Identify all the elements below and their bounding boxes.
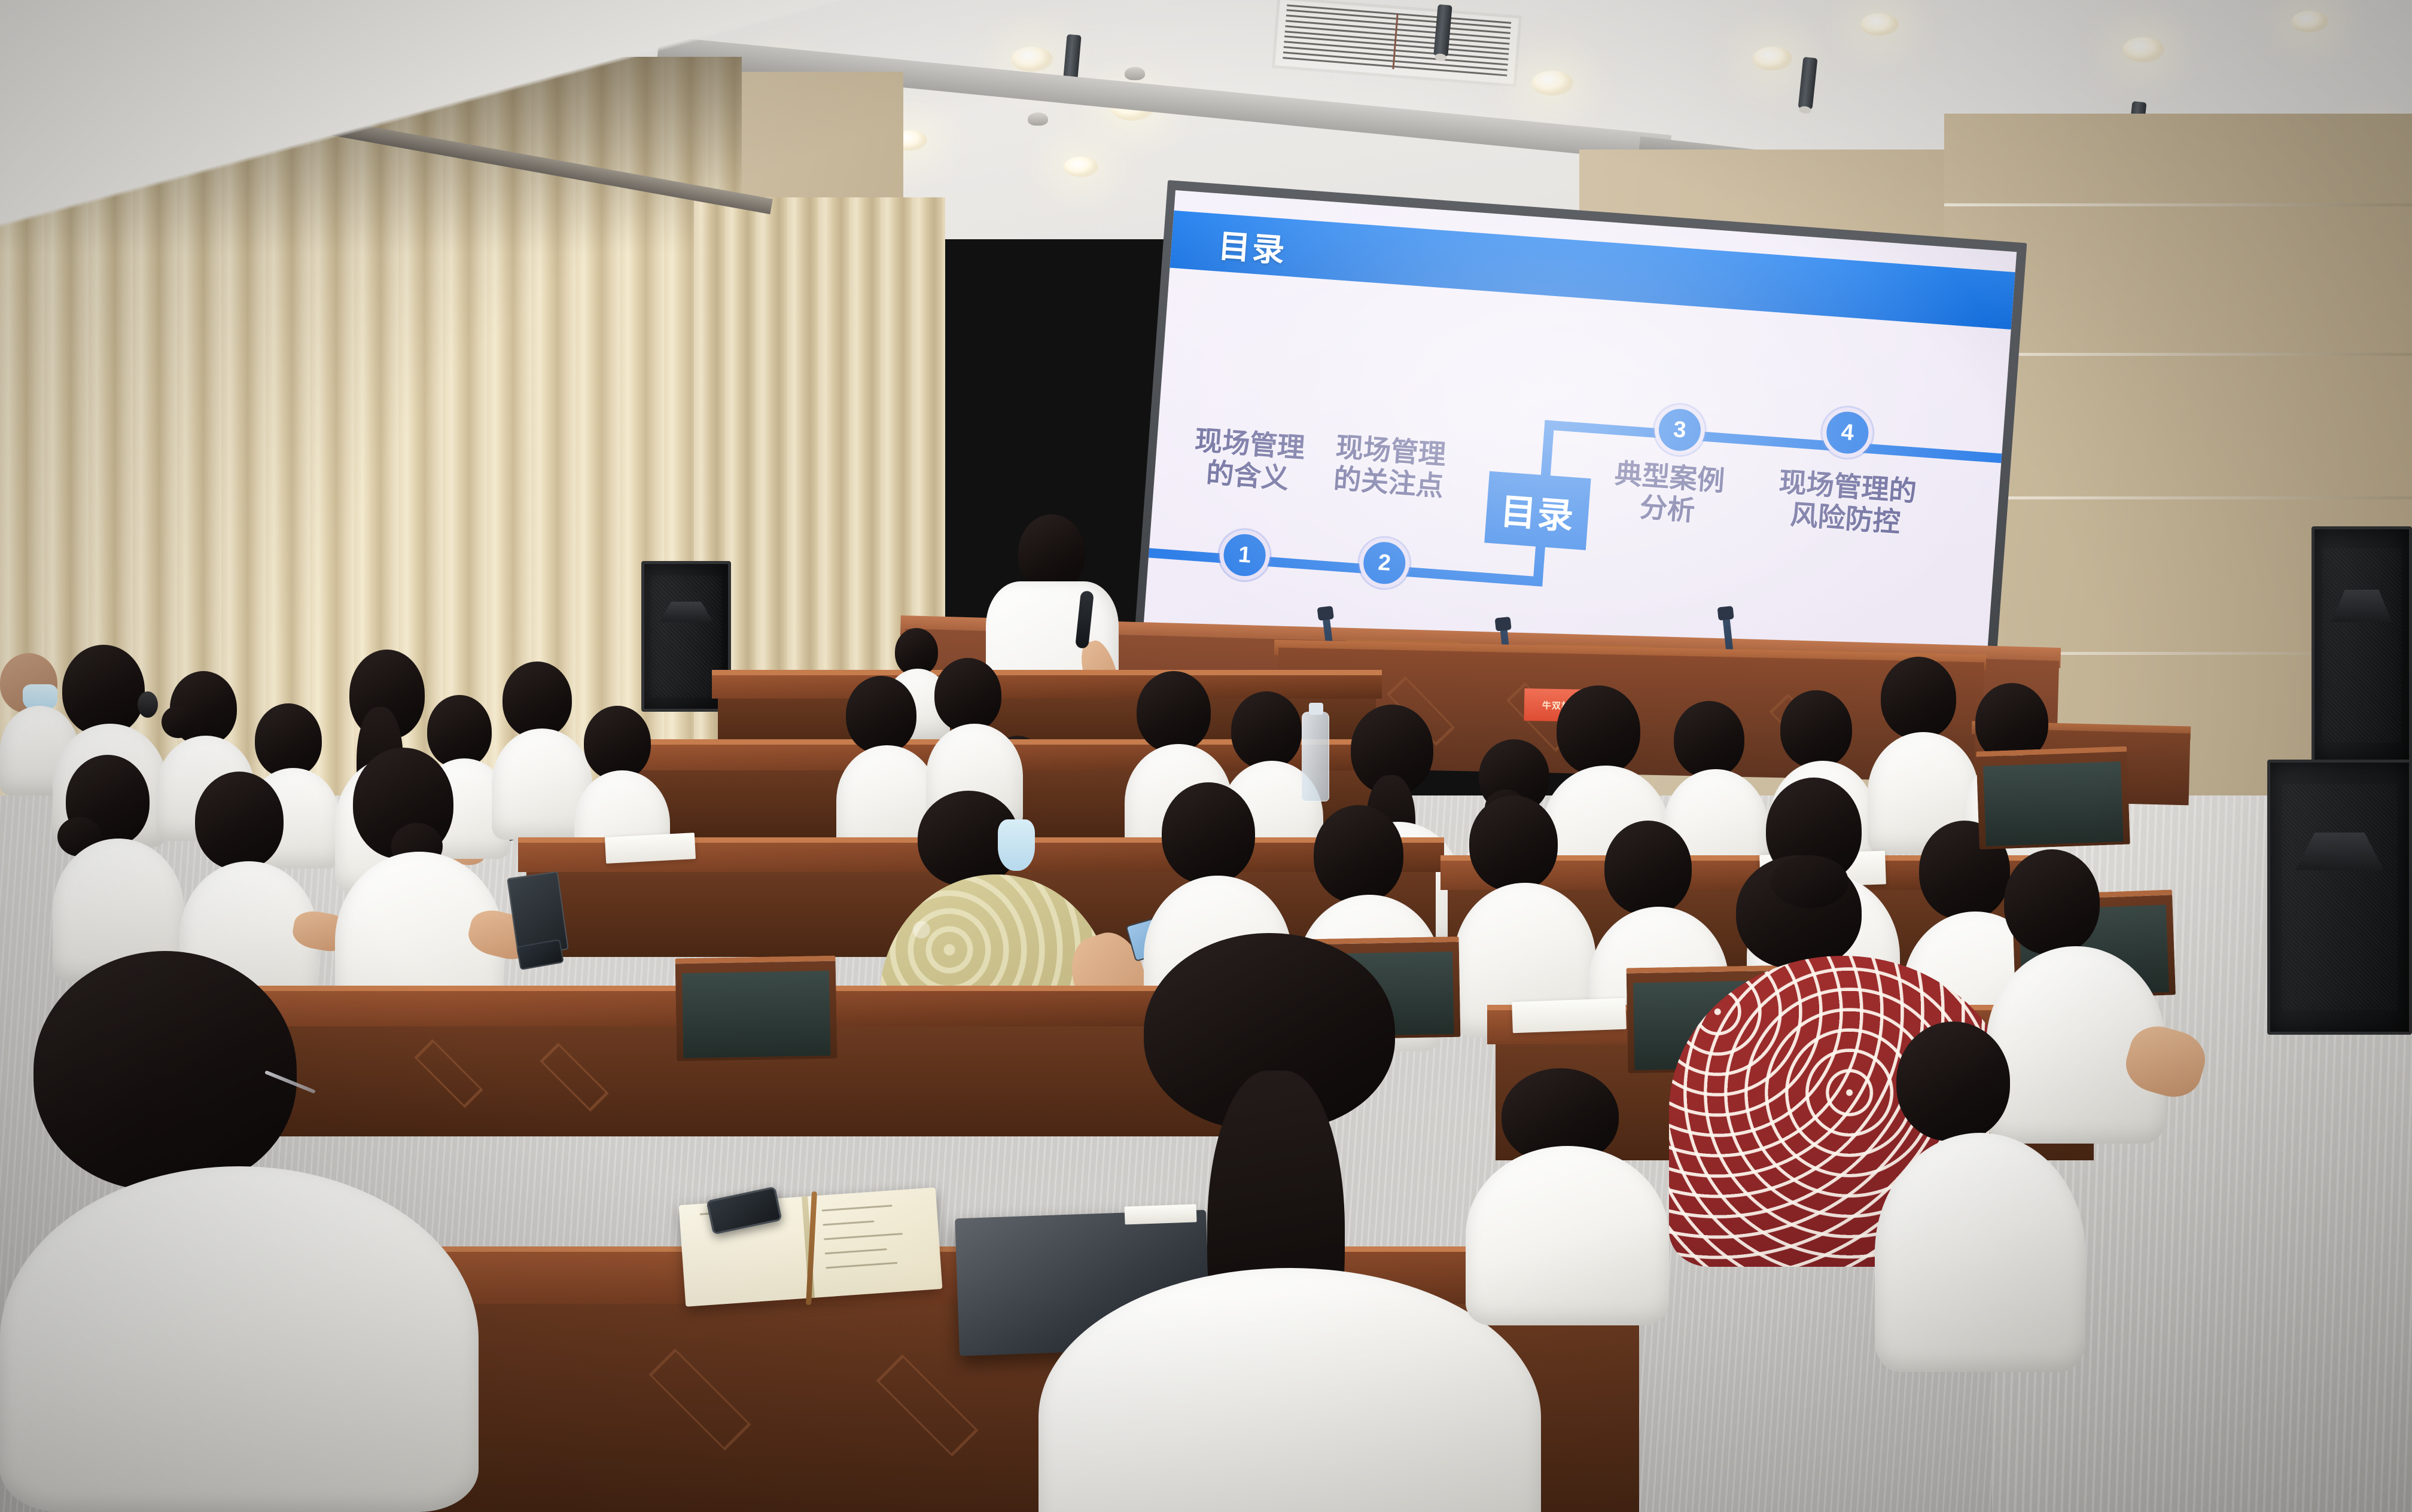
person-head xyxy=(1162,782,1255,884)
person-head xyxy=(1896,1022,2010,1141)
chair xyxy=(1976,746,2130,850)
ceiling-downlight xyxy=(1860,13,1899,36)
person-head xyxy=(1557,685,1640,775)
hair-bun xyxy=(1771,855,1848,908)
folder-paper xyxy=(1125,1204,1197,1224)
person-head xyxy=(1469,795,1558,891)
person-head xyxy=(1231,691,1302,769)
person-head xyxy=(195,772,284,870)
person-torso xyxy=(1875,1133,2085,1372)
person-head xyxy=(33,951,297,1190)
loudspeaker-right-upper xyxy=(2311,526,2412,764)
ceiling-downlight xyxy=(2122,37,2164,62)
smoke-detector-icon xyxy=(1125,67,1145,80)
paper-sheet xyxy=(605,833,696,864)
face-mask-icon xyxy=(998,819,1035,871)
person-head xyxy=(934,658,1001,732)
person-head xyxy=(1780,690,1852,768)
person-head xyxy=(1674,701,1744,778)
loudspeaker-right-lower xyxy=(2267,760,2412,1035)
timeline-item-1-label: 现场管理 的含义 xyxy=(1178,423,1320,497)
person-head xyxy=(502,661,572,738)
ceiling-downlight xyxy=(1064,157,1098,177)
presenter-head xyxy=(1018,514,1085,592)
bluetooth-earpiece-icon xyxy=(138,691,158,718)
smoke-detector-icon xyxy=(1028,112,1048,126)
person-head xyxy=(255,703,322,778)
person-head xyxy=(846,676,916,754)
person-head xyxy=(62,645,145,736)
person-head xyxy=(427,695,492,768)
timeline-node-1: 1 xyxy=(1218,528,1272,582)
hair-bun xyxy=(162,706,195,738)
conference-room-photo: 目录 现场管理 的含义 1 现场管理 的关注点 2 目录 xyxy=(0,0,2412,1512)
person-head xyxy=(584,706,651,780)
person-head xyxy=(1314,805,1403,903)
person-torso xyxy=(0,1166,479,1512)
desk-row-1 xyxy=(712,670,1382,699)
timeline-connector-high xyxy=(1548,420,2006,464)
paper-sheet xyxy=(1512,998,1627,1034)
timeline-node-3: 3 xyxy=(1653,403,1707,457)
timeline-item-2-label: 现场管理 的关注点 xyxy=(1318,430,1460,504)
ceiling-curtain-mask xyxy=(0,0,873,251)
ceiling-downlight xyxy=(1753,47,1792,71)
chair xyxy=(675,956,837,1062)
timeline-item-4-label: 现场管理的 风险防控 xyxy=(1764,465,1929,541)
person-head xyxy=(1137,671,1211,752)
water-bottle xyxy=(1302,712,1329,801)
ceiling-downlight xyxy=(2291,11,2328,32)
ceiling-downlight xyxy=(1531,71,1573,96)
person-head xyxy=(2004,849,2100,955)
timeline-connector-low xyxy=(1149,548,1543,586)
person-head xyxy=(1604,821,1692,915)
slide-header-title: 目录 xyxy=(1217,219,1288,271)
person-head xyxy=(1881,657,1956,739)
person-torso xyxy=(1466,1146,1669,1325)
timeline-node-2: 2 xyxy=(1357,536,1411,590)
timeline-item-3-label: 典型案例 分析 xyxy=(1597,456,1739,530)
timeline-center-badge: 目录 xyxy=(1484,471,1591,550)
ceiling-downlight xyxy=(1011,47,1053,72)
